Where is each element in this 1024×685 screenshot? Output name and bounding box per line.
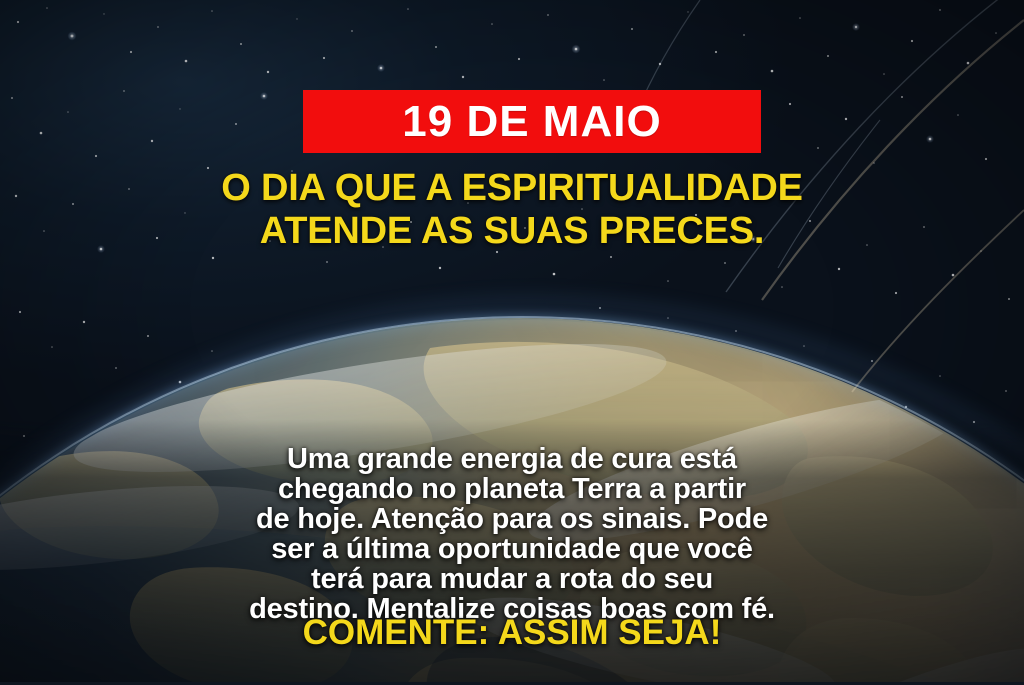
headline-line-2: ATENDE AS SUAS PRECES. (17, 210, 1007, 253)
body-line-5: terá para mudar a rota do seu (42, 565, 982, 594)
headline-line-1: O DIA QUE A ESPIRITUALIDADE (17, 167, 1007, 210)
body-copy: Uma grande energia de cura está chegando… (42, 445, 982, 625)
body-line-1: Uma grande energia de cura está (42, 445, 982, 474)
date-banner-label: 19 DE MAIO (402, 100, 661, 144)
date-banner: 19 DE MAIO (303, 90, 761, 153)
body-line-3: de hoje. Atenção para os sinais. Pode (42, 505, 982, 534)
poster-content: 19 DE MAIO O DIA QUE A ESPIRITUALIDADE A… (0, 0, 1024, 685)
body-line-2: chegando no planeta Terra a partir (42, 475, 982, 504)
headline: O DIA QUE A ESPIRITUALIDADE ATENDE AS SU… (17, 167, 1007, 254)
body-line-4: ser a última oportunidade que você (42, 535, 982, 564)
call-to-action-text: COMENTE: ASSIM SEJA! (303, 615, 722, 650)
poster-canvas: 19 DE MAIO O DIA QUE A ESPIRITUALIDADE A… (0, 0, 1024, 685)
